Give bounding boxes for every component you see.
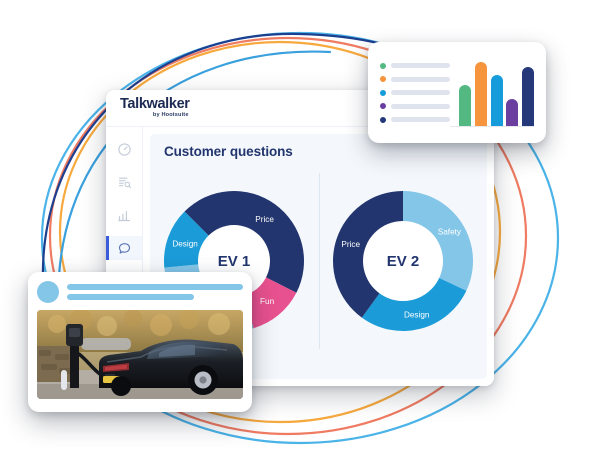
bar[interactable] — [491, 75, 503, 125]
legend-color-dot — [380, 117, 386, 123]
legend-color-dot — [380, 90, 386, 96]
legend-label-placeholder — [391, 104, 450, 109]
legend-label-placeholder — [391, 117, 450, 122]
sidebar-item-analytics[interactable] — [106, 203, 142, 227]
page-title: Customer questions — [150, 144, 487, 159]
document-search-icon — [117, 175, 132, 190]
social-post-card — [28, 272, 252, 412]
avatar — [37, 281, 59, 303]
post-photo — [37, 310, 243, 399]
bar-chart-icon — [117, 208, 132, 223]
talkwalker-logo: Talkwalker by Hootsuite — [120, 97, 190, 119]
sidebar-item-dashboard[interactable] — [106, 137, 142, 161]
post-placeholder-lines — [67, 284, 243, 300]
legend-label-placeholder — [391, 77, 450, 82]
ev-charging-photo — [37, 310, 243, 399]
legend-row[interactable] — [380, 76, 450, 82]
chart-cell-ev2: EV 2 SafetyDesignPrice — [319, 163, 488, 359]
post-line-2 — [67, 294, 194, 300]
legend-color-dot — [380, 103, 386, 109]
legend-label-placeholder — [391, 90, 450, 95]
post-header — [37, 281, 243, 303]
bar[interactable] — [475, 62, 487, 125]
legend-row[interactable] — [380, 117, 450, 123]
bar-chart-bars — [450, 59, 534, 127]
bar[interactable] — [506, 99, 518, 125]
donut-center-label-ev2: EV 2 — [386, 253, 419, 270]
speech-bubble-icon — [117, 241, 132, 256]
promo-illustration: Talkwalker by Hootsuite — [0, 0, 608, 466]
gauge-icon — [117, 142, 132, 157]
logo-wordmark: Talkwalker — [120, 97, 190, 112]
legend-row[interactable] — [380, 103, 450, 109]
legend-color-dot — [380, 63, 386, 69]
donut-slice-label-price: Price — [256, 215, 275, 224]
bar-chart-card — [368, 42, 546, 143]
legend-row[interactable] — [380, 63, 450, 69]
legend-label-placeholder — [391, 63, 450, 68]
donut-slice-label-fun: Fun — [260, 297, 275, 306]
logo-byline: by Hootsuite — [153, 113, 189, 119]
bar[interactable] — [522, 67, 534, 125]
legend-color-dot — [380, 76, 386, 82]
donut-slice-label-design: Design — [404, 310, 430, 319]
sidebar-item-reports[interactable] — [106, 170, 142, 194]
donut-slice-label-price: Price — [341, 240, 360, 249]
donut-slice-label-design: Design — [173, 239, 199, 248]
donut-chart-ev2: EV 2 SafetyDesignPrice — [327, 185, 479, 337]
bar-chart-legend — [380, 63, 450, 123]
legend-row[interactable] — [380, 90, 450, 96]
sidebar-item-conversations[interactable] — [106, 236, 142, 260]
donut-center-label-ev1: EV 1 — [218, 253, 251, 270]
donut-slice-label-safety: Safety — [438, 228, 462, 237]
post-line-1 — [67, 284, 243, 290]
bar[interactable] — [459, 85, 471, 126]
